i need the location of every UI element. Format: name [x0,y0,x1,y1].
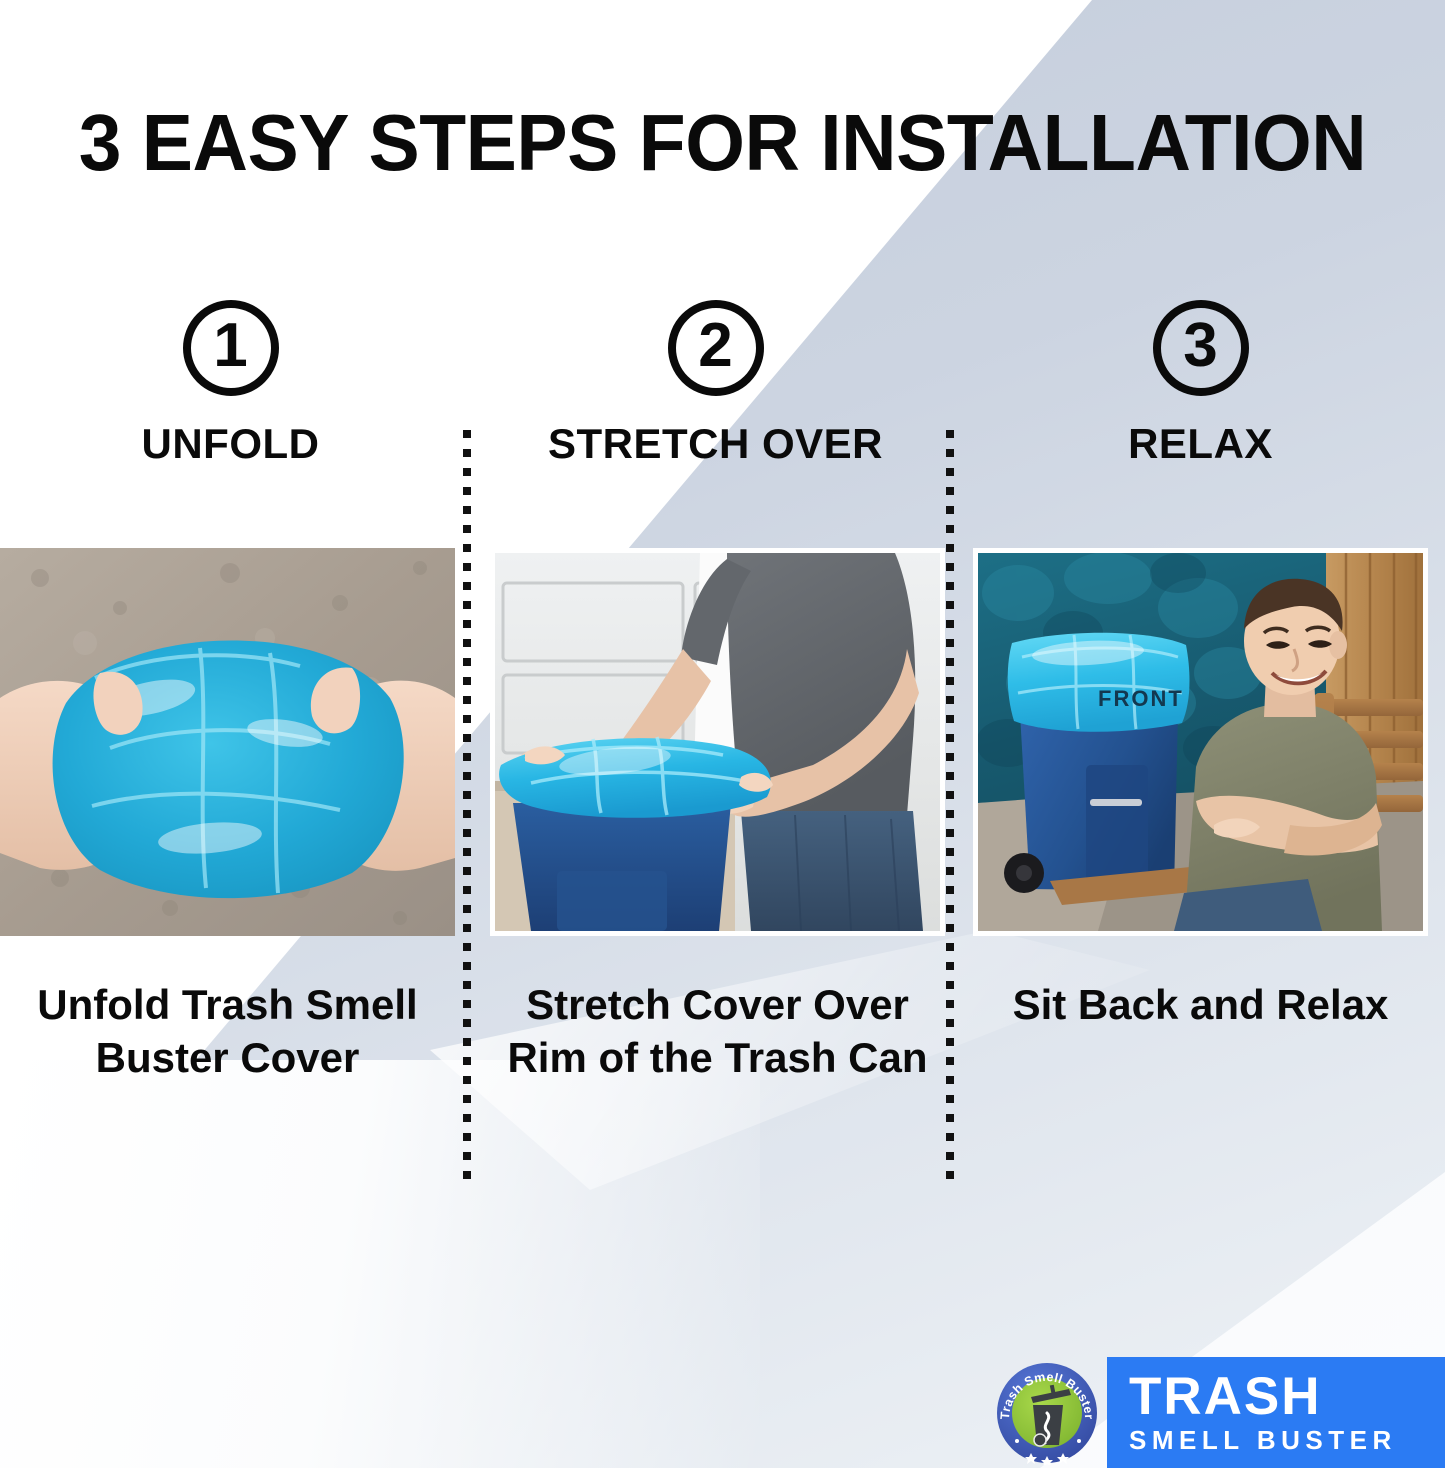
page-title: 3 EASY STEPS FOR INSTALLATION [29,103,1416,183]
step-caption-2: Stretch Cover Over Rim of the Trash Can [490,978,945,1084]
step-number-badge-2: 2 [668,300,764,396]
step-caption-3: Sit Back and Relax [973,978,1428,1031]
trash-smell-buster-badge-icon: Trash Smell Buster [995,1361,1099,1465]
step-column-2: 2 STRETCH OVER [488,300,943,468]
infographic-root: 3 EASY STEPS FOR INSTALLATION 1 UNFOLD [0,0,1445,1468]
step-caption-1: Unfold Trash Smell Buster Cover [0,978,455,1084]
brand-logo: Trash Smell Buster TRASH SMELL BUSTER [995,1357,1445,1468]
dotted-divider-2 [946,430,954,1182]
photo-relax-illustration: FRONT [978,553,1423,931]
step-number-badge-3: 3 [1153,300,1249,396]
step-label-3: RELAX [973,420,1428,468]
brand-name-secondary: SMELL BUSTER [1129,1425,1445,1455]
dotted-divider-1 [463,430,471,1182]
step-photo-3: FRONT [973,548,1428,936]
step-label-2: STRETCH OVER [488,420,943,468]
photo-stretch-illustration [495,553,940,931]
step-number-1: 1 [213,315,247,377]
step-photo-2 [490,548,945,936]
photo-unfold-illustration [0,548,455,936]
step-number-badge-1: 1 [183,300,279,396]
step-label-1: UNFOLD [3,420,458,468]
brand-name-primary: TRASH [1129,1371,1445,1423]
bin-front-label: FRONT [1098,686,1184,711]
step-number-3: 3 [1183,315,1217,377]
step-column-1: 1 UNFOLD [3,300,458,468]
step-photo-1 [0,548,455,936]
step-number-2: 2 [698,315,732,377]
step-column-3: 3 RELAX [973,300,1428,468]
brand-logo-box: TRASH SMELL BUSTER [1107,1357,1445,1468]
